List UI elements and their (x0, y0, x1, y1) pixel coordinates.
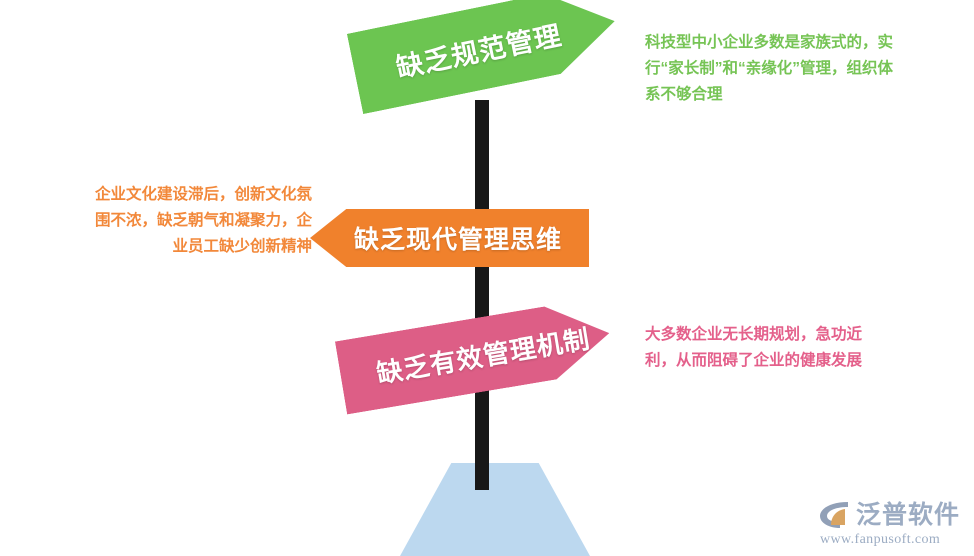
watermark-logo-top: 泛普软件 (818, 500, 960, 530)
sign-orange-label: 缺乏现代管理思维 (354, 220, 562, 256)
caption-pink: 大多数企业无长期规划，急功近利，从而阻碍了企业的健康发展 (645, 322, 885, 374)
sign-pink-label: 缺乏有效管理机制 (373, 318, 592, 390)
watermark-url: www.fanpusoft.com (820, 532, 940, 548)
caption-orange: 企业文化建设滞后，创新文化氛围不浓，缺乏朝气和凝聚力，企业员工缺少创新精神 (80, 182, 312, 260)
sign-orange[interactable]: 缺乏现代管理思维 (310, 209, 589, 267)
signpost-pole (475, 100, 489, 490)
sign-green-label: 缺乏规范管理 (392, 13, 564, 85)
watermark-logo: 泛普软件 www.fanpusoft.com (818, 500, 960, 548)
diagram-canvas: 缺乏规范管理 缺乏现代管理思维 缺乏有效管理机制 科技型中小企业多数是家族式的，… (0, 0, 974, 556)
fanpu-logo-icon (818, 500, 852, 530)
watermark-brand: 泛普软件 (856, 503, 960, 528)
sign-green[interactable]: 缺乏规范管理 (347, 0, 623, 114)
signpost-base (400, 463, 590, 556)
caption-green: 科技型中小企业多数是家族式的，实行“家长制”和“亲缘化”管理，组织体系不够合理 (645, 30, 895, 108)
